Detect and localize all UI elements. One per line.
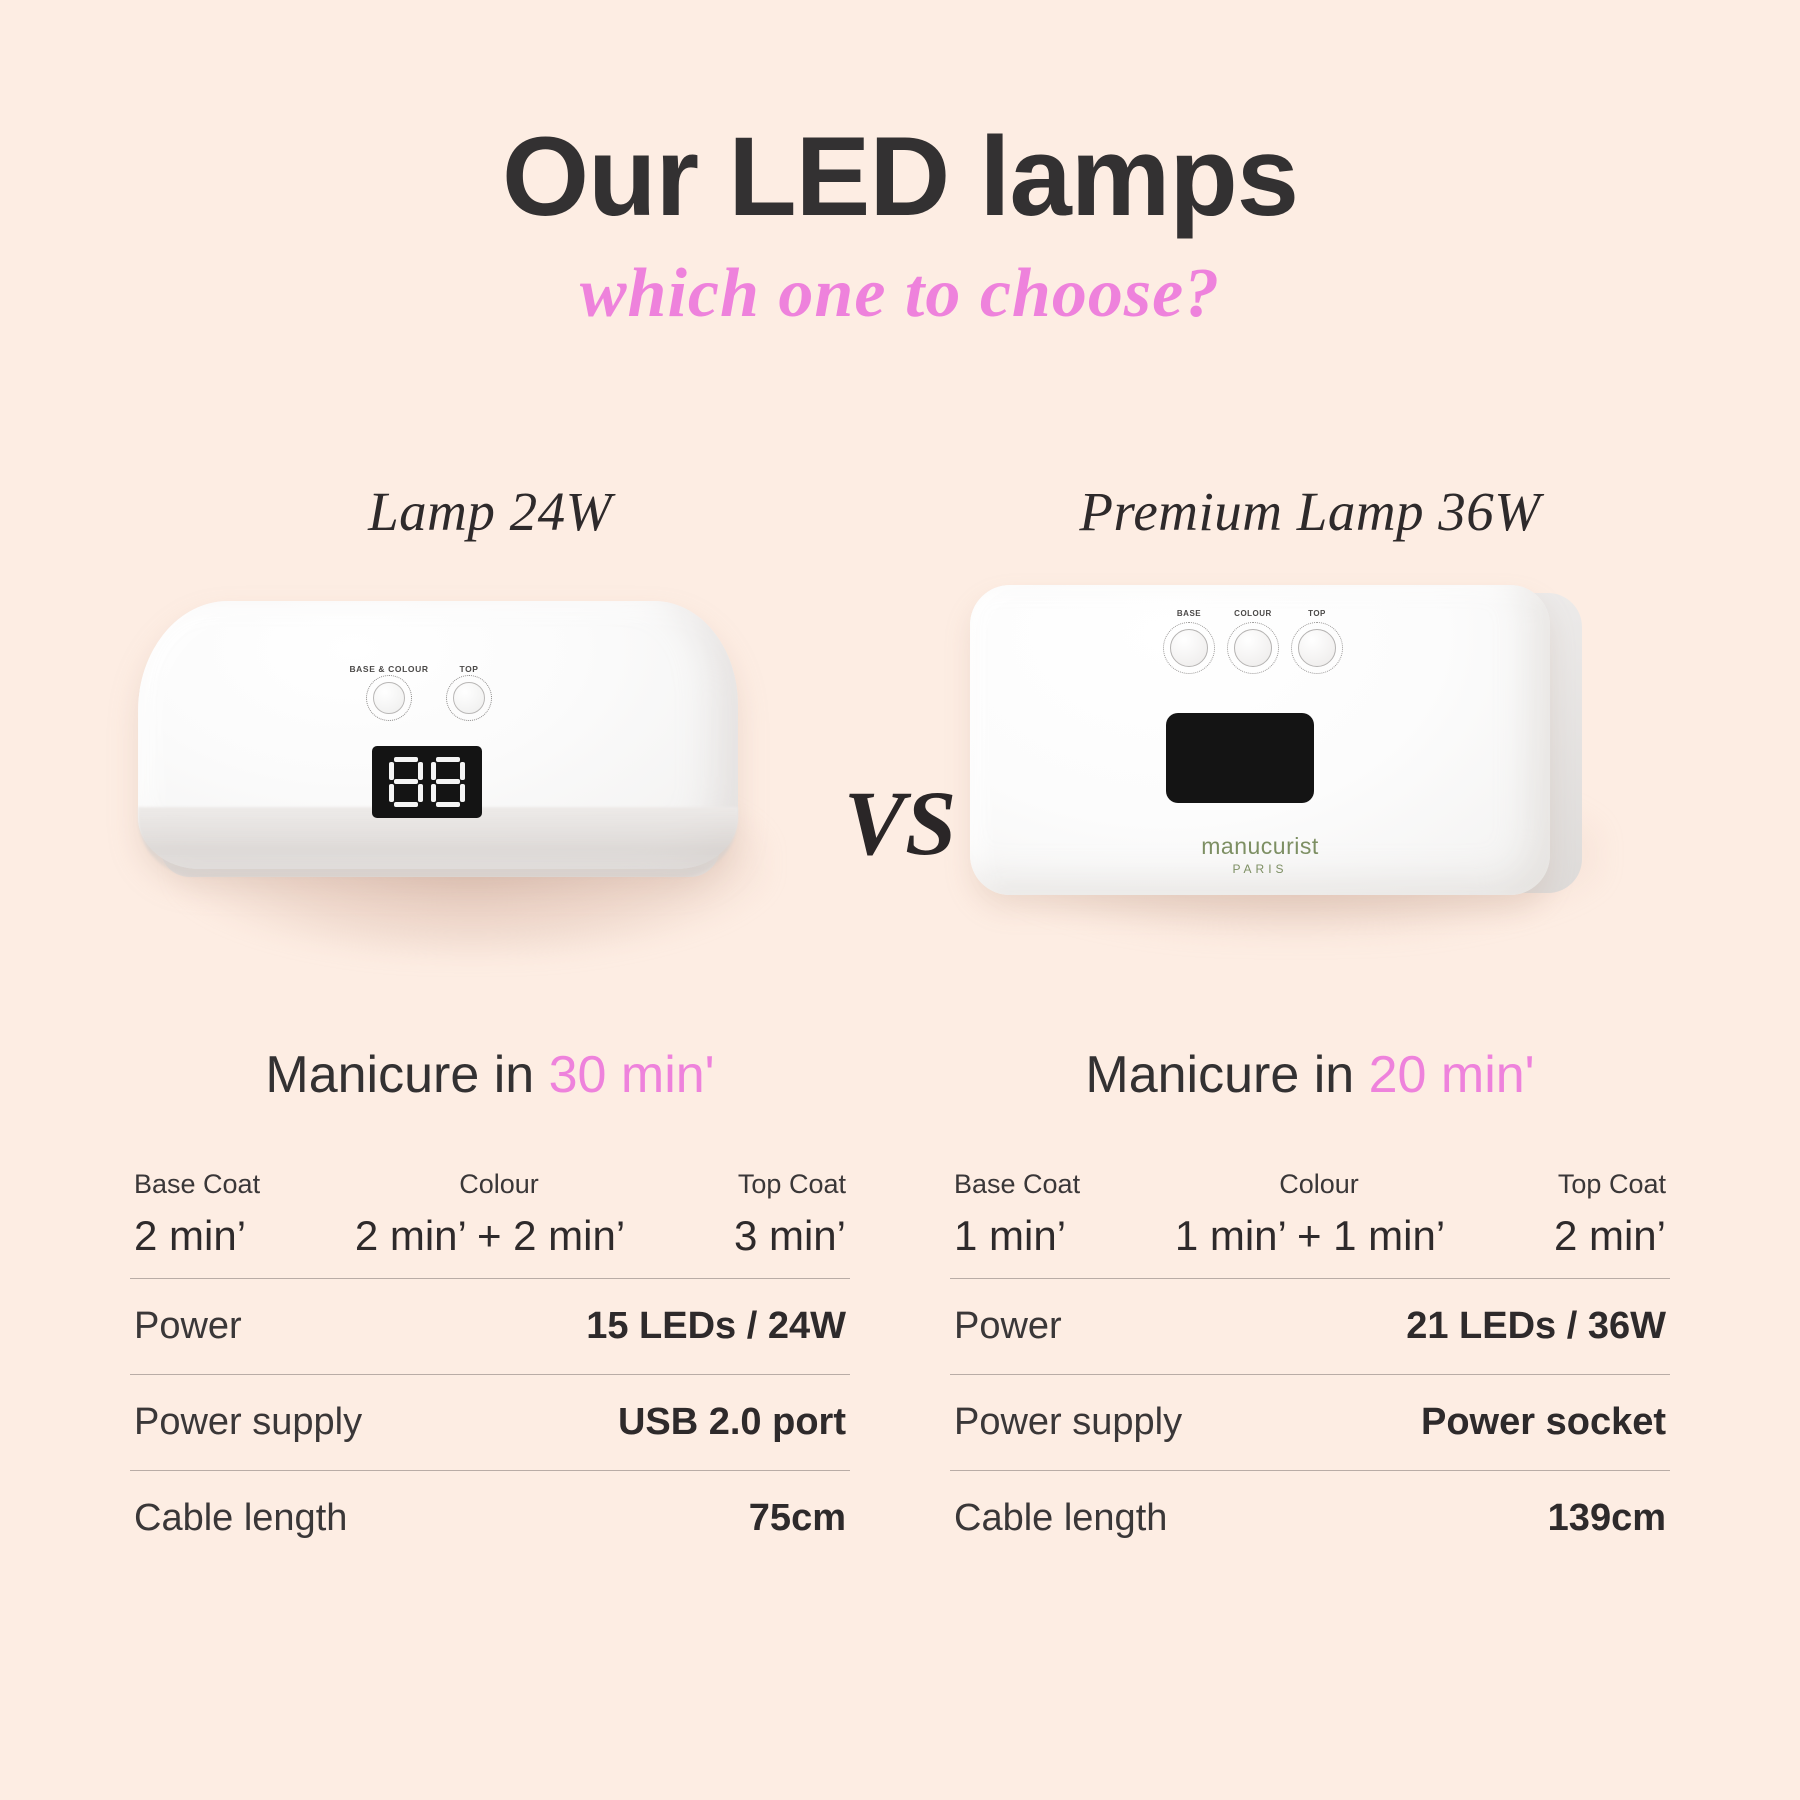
brand-name: manucurist <box>970 833 1550 860</box>
led-display-panel <box>1166 713 1314 803</box>
top-button-label: TOP <box>1308 609 1326 618</box>
spec-value: 75cm <box>749 1497 846 1540</box>
manicure-time-36w: Manicure in 20 min' <box>940 1045 1680 1105</box>
lamp-image-24w: BASE & COLOUR TOP <box>120 571 860 1001</box>
spec-row-power-supply: Power supply USB 2.0 port <box>130 1375 850 1470</box>
colour-button[interactable]: COLOUR <box>1234 629 1272 667</box>
top-button[interactable]: TOP <box>1298 629 1336 667</box>
spec-label: Cable length <box>954 1497 1167 1540</box>
spec-value: USB 2.0 port <box>618 1401 846 1444</box>
coat-value-row: 2 min’ 2 min’ + 2 min’ 3 min’ <box>130 1212 850 1278</box>
led-timer-display <box>372 746 482 818</box>
seven-segment-digit <box>389 757 423 807</box>
coat-value-base: 1 min’ <box>954 1212 1066 1260</box>
coat-value-top: 2 min’ <box>1554 1212 1666 1260</box>
manicure-prefix: Manicure in <box>1085 1046 1368 1104</box>
coat-value-colour: 2 min’ + 2 min’ <box>355 1212 625 1260</box>
spec-row-cable-length: Cable length 139cm <box>950 1471 1670 1566</box>
spec-label: Power <box>954 1305 1062 1348</box>
manicure-prefix: Manicure in <box>265 1046 548 1104</box>
brand-location: PARIS <box>970 862 1550 876</box>
spec-label: Power supply <box>134 1401 362 1444</box>
lamp-title-36w: Premium Lamp 36W <box>940 480 1680 543</box>
lamp-column-24w: Lamp 24W BASE & COLOUR TOP <box>120 0 860 1566</box>
coat-header-base: Base Coat <box>954 1169 1080 1200</box>
spec-row-cable-length: Cable length 75cm <box>130 1471 850 1566</box>
spec-row-power-supply: Power supply Power socket <box>950 1375 1670 1470</box>
brand-logo: manucurist PARIS <box>970 833 1550 876</box>
lamp-column-36w: Premium Lamp 36W BASE COLOUR <box>940 0 1680 1566</box>
spec-value: 139cm <box>1548 1497 1666 1540</box>
infographic-page: Our LED lamps which one to choose? VS La… <box>0 0 1800 1800</box>
coat-value-colour: 1 min’ + 1 min’ <box>1175 1212 1445 1260</box>
coat-value-base: 2 min’ <box>134 1212 246 1260</box>
spec-table-24w: Base Coat Colour Top Coat 2 min’ 2 min’ … <box>120 1169 860 1566</box>
base-button-label: BASE <box>1177 609 1201 618</box>
coat-header-colour: Colour <box>1279 1169 1359 1200</box>
spec-label: Power supply <box>954 1401 1182 1444</box>
coat-value-row: 1 min’ 1 min’ + 1 min’ 2 min’ <box>950 1212 1670 1278</box>
button-cap-icon <box>453 682 485 714</box>
coat-value-top: 3 min’ <box>734 1212 846 1260</box>
colour-button-label: COLOUR <box>1234 609 1272 618</box>
coat-header-top: Top Coat <box>738 1169 846 1200</box>
manicure-duration: 20 min' <box>1369 1046 1535 1104</box>
lamp-control-buttons: BASE & COLOUR TOP <box>366 675 492 721</box>
coat-header-top: Top Coat <box>1558 1169 1666 1200</box>
coat-header-colour: Colour <box>459 1169 539 1200</box>
base-colour-button[interactable]: BASE & COLOUR <box>366 675 412 721</box>
base-colour-button-label: BASE & COLOUR <box>349 664 428 674</box>
spec-row-power: Power 15 LEDs / 24W <box>130 1279 850 1374</box>
top-button-label: TOP <box>459 664 478 674</box>
spec-label: Power <box>134 1305 242 1348</box>
coat-header-base: Base Coat <box>134 1169 260 1200</box>
button-cap-icon <box>1170 629 1208 667</box>
lamp-control-buttons: BASE COLOUR TOP <box>1170 629 1336 667</box>
spec-label: Cable length <box>134 1497 347 1540</box>
button-cap-icon <box>1298 629 1336 667</box>
spec-value: 15 LEDs / 24W <box>586 1305 846 1348</box>
coat-header-row: Base Coat Colour Top Coat <box>130 1169 850 1212</box>
spec-table-36w: Base Coat Colour Top Coat 1 min’ 1 min’ … <box>940 1169 1680 1566</box>
button-cap-icon <box>373 682 405 714</box>
seven-segment-digit <box>431 757 465 807</box>
spec-value: 21 LEDs / 36W <box>1406 1305 1666 1348</box>
manicure-duration: 30 min' <box>549 1046 715 1104</box>
button-cap-icon <box>1234 629 1272 667</box>
vs-divider-label: VS <box>844 770 957 876</box>
lamp-image-36w: BASE COLOUR TOP <box>940 571 1680 1001</box>
coat-header-row: Base Coat Colour Top Coat <box>950 1169 1670 1212</box>
base-button[interactable]: BASE <box>1170 629 1208 667</box>
lamp-body: BASE COLOUR TOP <box>970 585 1550 895</box>
top-button[interactable]: TOP <box>446 675 492 721</box>
spec-row-power: Power 21 LEDs / 36W <box>950 1279 1670 1374</box>
spec-value: Power socket <box>1421 1401 1666 1444</box>
manicure-time-24w: Manicure in 30 min' <box>120 1045 860 1105</box>
lamp-title-24w: Lamp 24W <box>120 480 860 543</box>
